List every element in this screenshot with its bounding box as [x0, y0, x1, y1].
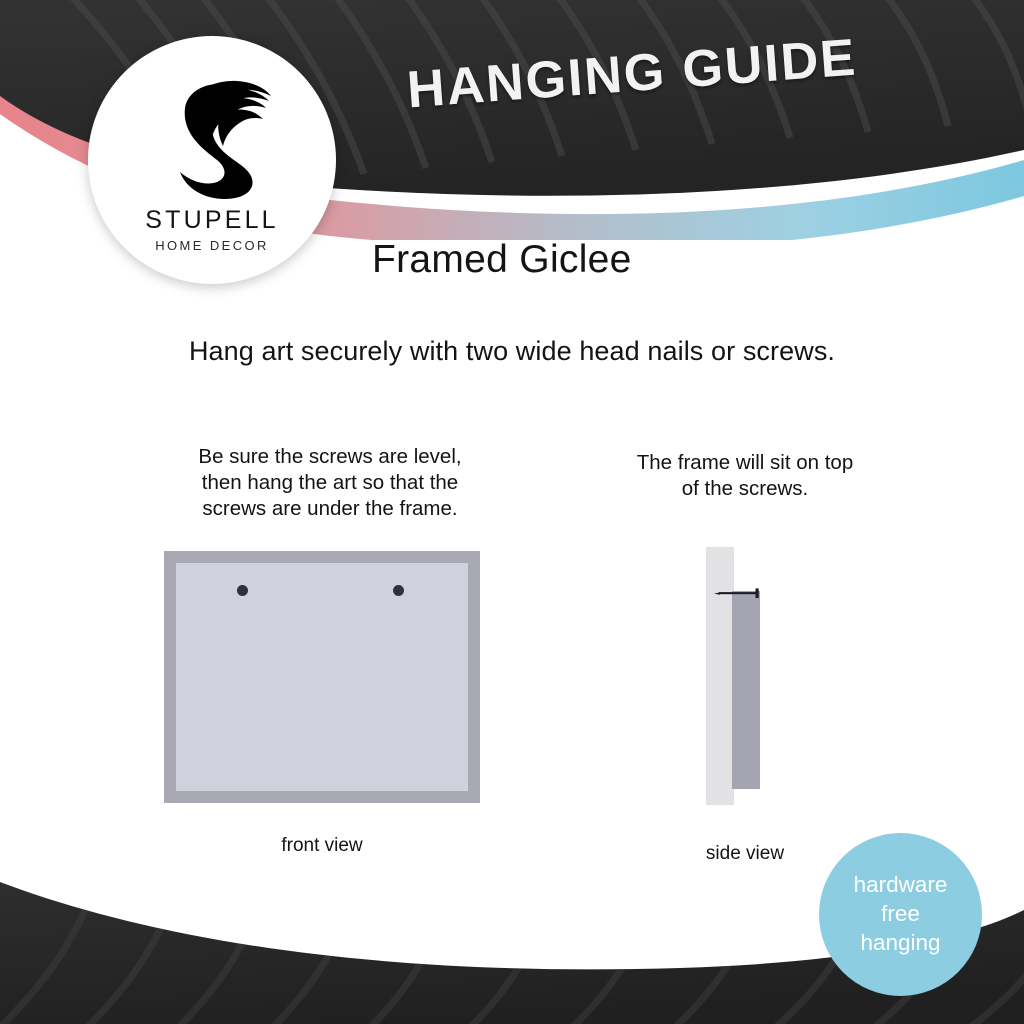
caption-line: screws are under the frame.: [152, 496, 508, 522]
nail-icon: [712, 585, 768, 601]
front-view-caption: Be sure the screws are level, then hang …: [152, 444, 508, 523]
caption-line: Be sure the screws are level,: [152, 444, 508, 470]
product-type-heading: Framed Giclee: [372, 238, 632, 282]
stupell-swirl-mark: [153, 72, 271, 200]
screw-dot-left: [237, 585, 248, 596]
frame-mat: [176, 563, 468, 791]
brand-name: STUPELL: [145, 206, 279, 235]
front-view-caption-block: Be sure the screws are level, then hang …: [152, 444, 508, 523]
front-view-frame-diagram: [164, 551, 480, 803]
side-view-diagram: [706, 547, 786, 805]
frame-strip: [732, 591, 760, 789]
caption-line: of the screws.: [580, 476, 910, 502]
brand-subtitle: HOME DECOR: [155, 238, 269, 253]
badge-line: hanging: [860, 929, 940, 958]
caption-line: The frame will sit on top: [580, 450, 910, 476]
side-view-caption-block: The frame will sit on top of the screws.: [580, 450, 910, 502]
side-view-caption: The frame will sit on top of the screws.: [580, 450, 910, 502]
caption-line: then hang the art so that the: [152, 470, 508, 496]
screw-dot-right: [393, 585, 404, 596]
side-view-label: side view: [650, 843, 840, 865]
badge-line: free: [881, 900, 920, 929]
brand-logo-badge: STUPELL HOME DECOR: [88, 36, 336, 284]
lead-instruction: Hang art securely with two wide head nai…: [0, 336, 1024, 367]
hanging-guide-page: HANGING GUIDE STUPELL HOME DECOR Framed …: [0, 0, 1024, 1024]
front-view-label: front view: [164, 835, 480, 857]
hardware-free-badge: hardware free hanging: [819, 833, 982, 996]
badge-line: hardware: [854, 871, 948, 900]
